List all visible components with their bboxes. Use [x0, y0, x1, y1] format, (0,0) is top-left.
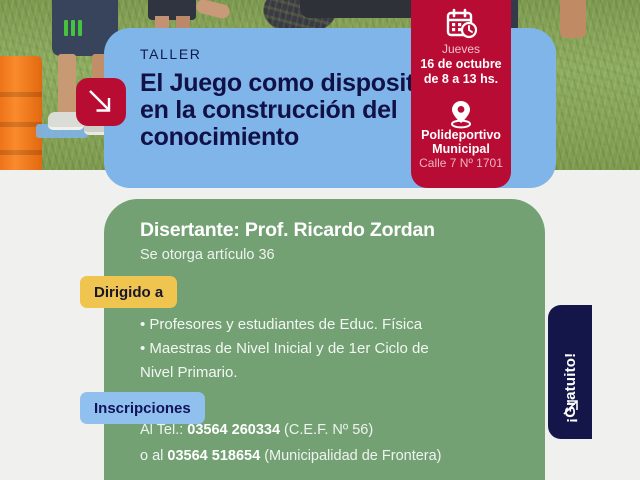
certificate-note: Se otorga artículo 36 — [140, 247, 275, 263]
arrow-down-right-glyph — [87, 88, 115, 116]
contact-block: Al Tel.: 03564 260334 (C.E.F. Nº 56) o a… — [140, 417, 540, 469]
kicker-label: TALLER — [140, 46, 201, 62]
event-time: de 8 a 13 hs. — [411, 72, 511, 87]
speaker-name: Disertante: Prof. Ricardo Zordan — [140, 219, 435, 242]
photo-equipment-bag — [300, 0, 420, 18]
venue-name-line2: Municipal — [411, 142, 511, 156]
registration-badge: Inscripciones — [80, 392, 205, 424]
phone-number[interactable]: 03564 518654 — [167, 448, 260, 464]
details-card: Disertante: Prof. Ricardo Zordan Se otor… — [104, 199, 545, 480]
audience-list: • Profesores y estudiantes de Educ. Físi… — [140, 313, 520, 385]
arrow-down-right-icon — [76, 78, 126, 126]
photo-cone-ring — [0, 150, 42, 155]
contact-prefix: o al — [140, 448, 167, 464]
event-weekday: Jueves — [411, 42, 511, 57]
venue-name-line1: Polideportivo — [411, 128, 511, 142]
event-date: 16 de octubre — [411, 57, 511, 72]
audience-badge: Dirigido a — [80, 276, 177, 308]
contact-suffix: (C.E.F. Nº 56) — [280, 422, 373, 438]
contact-suffix: (Municipalidad de Frontera) — [260, 448, 441, 464]
event-info-card: Jueves 16 de octubre de 8 a 13 hs. Polid… — [411, 0, 511, 188]
venue-address: Calle 7 Nº 1701 — [411, 156, 511, 170]
list-item: • Profesores y estudiantes de Educ. Físi… — [140, 313, 520, 337]
event-date-block: Jueves 16 de octubre de 8 a 13 hs. — [411, 42, 511, 87]
contact-prefix: Al Tel.: — [140, 422, 187, 438]
list-item: Nivel Primario. — [140, 361, 520, 385]
photo-person-leg — [560, 0, 586, 38]
photo-cone-ring — [0, 92, 42, 97]
contact-line: o al 03564 518654 (Municipalidad de Fron… — [140, 443, 540, 469]
free-admission-tab[interactable]: ¡Gratuito! — [548, 305, 592, 439]
event-venue-block: Polideportivo Municipal Calle 7 Nº 1701 — [411, 128, 511, 170]
arrow-up-right-icon — [561, 397, 581, 422]
list-item: • Maestras de Nivel Inicial y de 1er Cic… — [140, 337, 520, 361]
phone-number[interactable]: 03564 260334 — [187, 422, 280, 438]
photo-person-leg — [58, 54, 76, 116]
calendar-clock-icon — [411, 8, 511, 45]
